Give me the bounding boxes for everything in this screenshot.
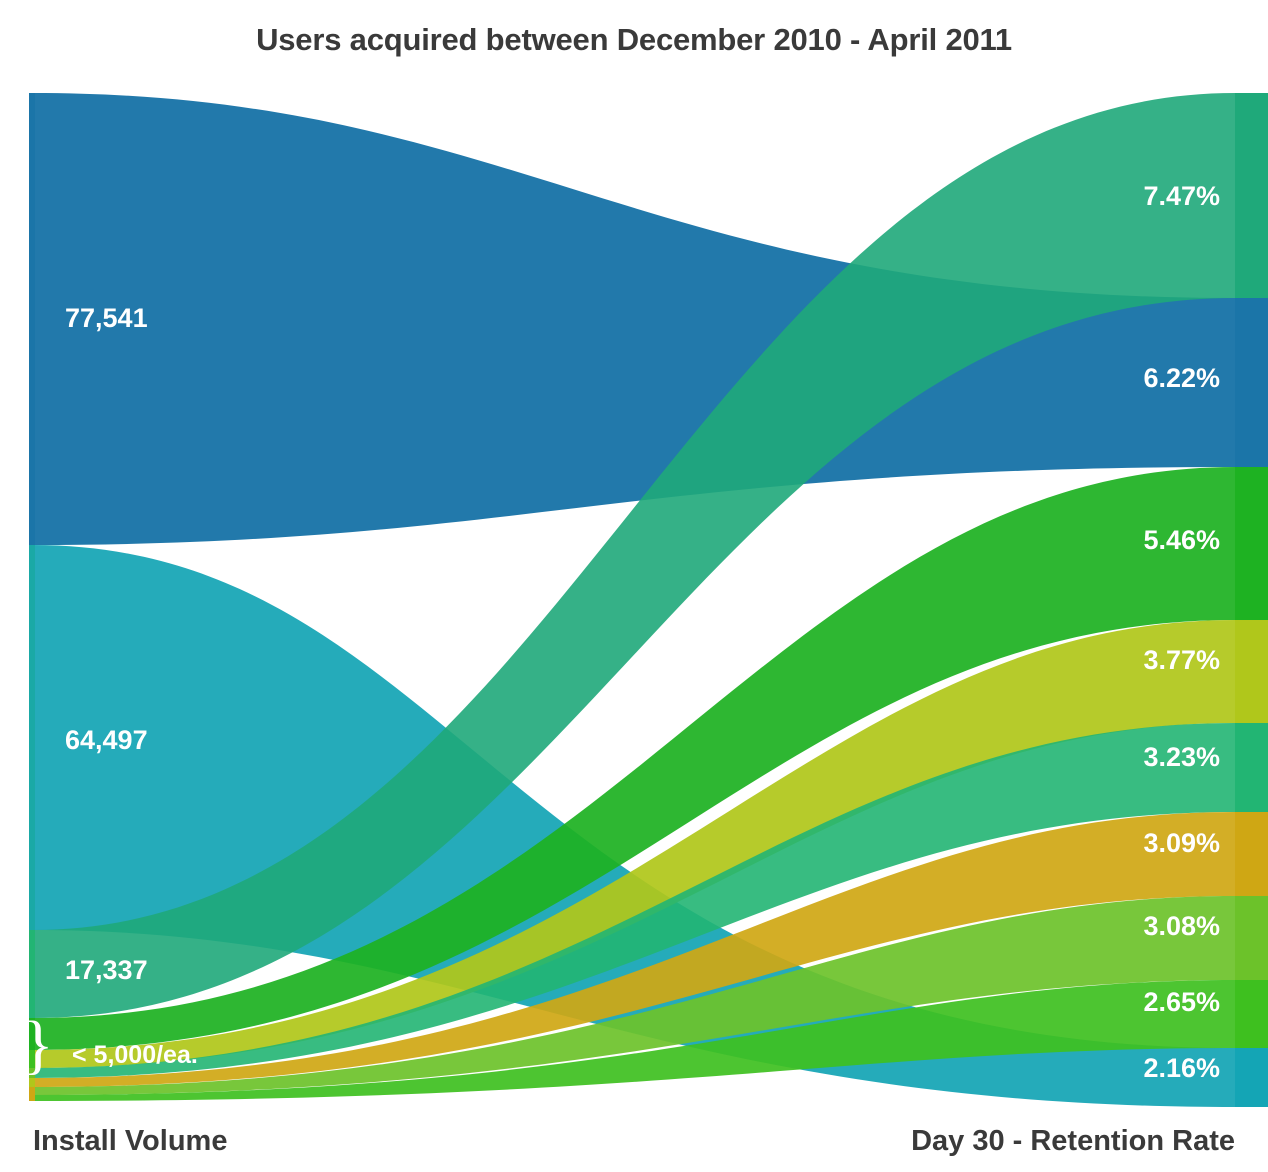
right-node-622 xyxy=(1235,298,1268,467)
right-node-546 xyxy=(1235,467,1268,620)
right-node-265 xyxy=(1235,980,1268,1048)
right-node-216 xyxy=(1235,1048,1268,1107)
left-node-small-5 xyxy=(29,1087,35,1101)
sankey-left-nodes xyxy=(29,93,35,1101)
sankey-canvas xyxy=(0,0,1268,1172)
right-node-377 xyxy=(1235,620,1268,723)
right-node-308 xyxy=(1235,896,1268,980)
grouping-brace: } xyxy=(22,1012,54,1078)
right-node-747 xyxy=(1235,93,1268,298)
left-node-77541 xyxy=(29,93,35,545)
left-node-17337 xyxy=(29,930,35,1018)
axis-label-install-volume: Install Volume xyxy=(33,1125,227,1158)
axis-label-retention-rate: Day 30 - Retention Rate xyxy=(911,1125,1235,1158)
right-node-323 xyxy=(1235,723,1268,812)
right-node-309 xyxy=(1235,812,1268,896)
sankey-links xyxy=(33,93,1235,1107)
sankey-chart: Users acquired between December 2010 - A… xyxy=(0,0,1268,1172)
left-node-64497 xyxy=(29,545,35,930)
sankey-right-nodes xyxy=(1235,93,1268,1107)
